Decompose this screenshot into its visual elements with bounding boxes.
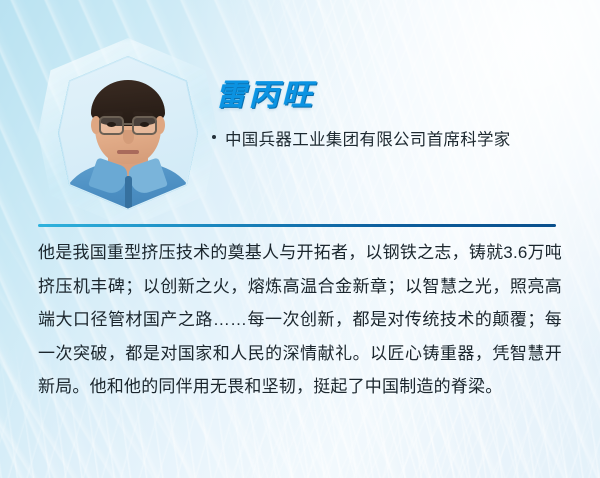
biography-text: 他是我国重型挤压技术的奠基人与开拓者，以钢铁之志，铸就3.6万吨挤压机丰碑；以创… [38,236,562,404]
portrait-container [44,42,212,224]
portrait-eye-right [140,122,149,127]
portrait-mouth [117,150,139,154]
person-title-block: 中国兵器工业集团有限公司首席科学家 [212,124,574,156]
person-name: 雷丙旺 [216,70,315,114]
portrait-placket [125,176,132,209]
profile-card: 雷丙旺 中国兵器工业集团有限公司首席科学家 他是我国重型挤压技术的奠基人与开拓者… [0,0,600,478]
section-divider [38,224,556,227]
portrait-photo [59,58,196,209]
portrait-eye-left [107,122,116,127]
bullet-icon [212,135,216,139]
person-title: 中国兵器工业集团有限公司首席科学家 [225,124,511,156]
glasses-bridge [124,123,132,125]
card-content: 雷丙旺 中国兵器工业集团有限公司首席科学家 他是我国重型挤压技术的奠基人与开拓者… [0,0,600,478]
